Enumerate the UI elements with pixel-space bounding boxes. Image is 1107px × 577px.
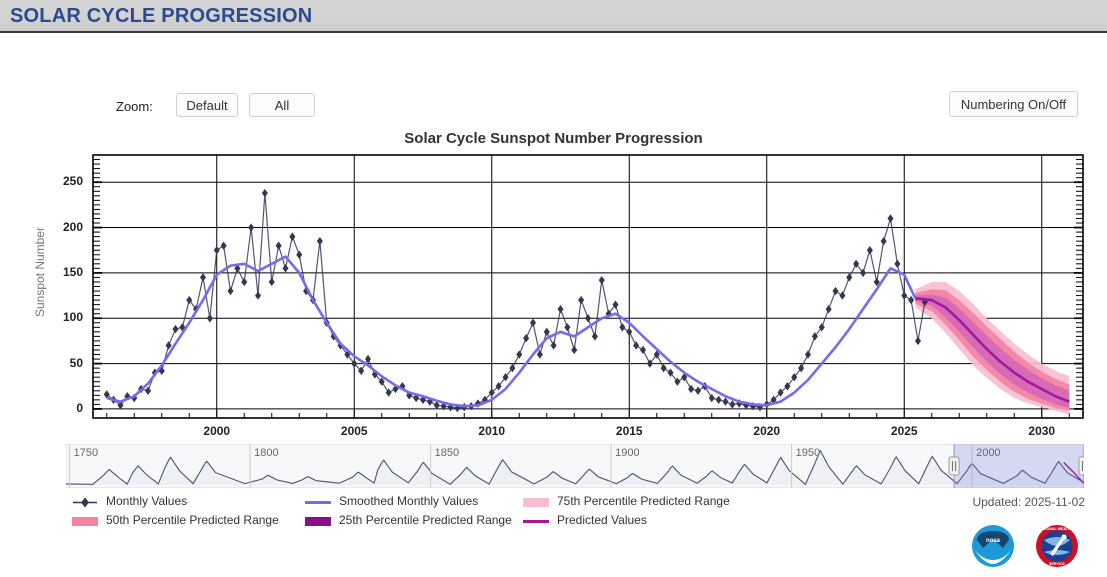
y-axis-tick: 250 [35,174,83,188]
navigator-handle-left-body[interactable] [949,457,959,475]
updated-timestamp: Updated: 2025-11-02 [972,495,1085,509]
legend-label: Monthly Values [106,494,187,508]
legend-band-swatch-icon [305,517,331,526]
zoom-label: Zoom: [116,99,153,114]
navigator-year-label: 1950 [796,447,820,459]
x-axis-tick: 2010 [462,424,522,438]
logo-svg: noaa NATIONAL WEATHER SERVICE [965,520,1085,572]
svg-text:SERVICE: SERVICE [1049,562,1065,566]
navigator-year-label: 1900 [615,447,639,459]
y-axis-tick: 0 [35,401,83,415]
x-axis-tick: 2000 [187,424,247,438]
y-axis-tick: 150 [35,265,83,279]
chart-plot-area[interactable] [0,150,1107,440]
legend-label: 25th Percentile Predicted Range [339,513,512,527]
solar-cycle-progression-page: SOLAR CYCLE PROGRESSION Zoom: Default Al… [0,0,1107,577]
chart-title: Solar Cycle Sunspot Number Progression [0,130,1107,147]
zoom-default-button[interactable]: Default [176,93,238,117]
navigator-handle-left[interactable] [949,457,959,475]
zoom-all-button[interactable]: All [249,93,315,117]
y-axis-tick: 200 [35,220,83,234]
navigator-svg [66,444,1084,488]
noaa-logo: noaa [972,525,1014,567]
legend-diamond-marker-icon [72,496,98,509]
chart-legend: Monthly ValuesSmoothed Monthly Values75t… [0,492,1107,537]
x-axis-tick: 2030 [1012,424,1072,438]
legend-label: 50th Percentile Predicted Range [106,513,279,527]
x-axis-tick: 2020 [737,424,797,438]
legend-label: 75th Percentile Predicted Range [557,494,730,508]
legend-band-swatch-icon [72,517,98,526]
legend-label: Predicted Values [557,513,647,527]
navigator-handle-right-body[interactable] [1079,457,1084,475]
navigator-handle-right[interactable] [1079,457,1084,475]
legend-line-icon [523,520,549,523]
page-title: SOLAR CYCLE PROGRESSION [10,5,312,28]
page-header: SOLAR CYCLE PROGRESSION [0,0,1107,33]
legend-line-icon [305,501,331,504]
svg-text:noaa: noaa [986,538,1001,544]
y-axis-tick: 50 [35,356,83,370]
x-axis-tick: 2015 [599,424,659,438]
x-axis-tick: 2025 [874,424,934,438]
navigator-range-selector[interactable]: 175018001850190019502000 [66,444,1084,488]
navigator-year-label: 1750 [74,447,98,459]
svg-text:NATIONAL WEATHER: NATIONAL WEATHER [1038,527,1076,531]
navigator-year-label: 1800 [254,447,278,459]
legend-label: Smoothed Monthly Values [339,494,478,508]
y-axis-tick: 100 [35,310,83,324]
legend-band-swatch-icon [523,498,549,507]
chart-toolbar [0,33,1107,95]
navigator-selection-mask[interactable] [954,444,1084,488]
chart-svg [0,150,1107,440]
navigator-year-label: 1850 [435,447,459,459]
navigator-year-label: 2000 [976,447,1000,459]
national-weather-service-logo: NATIONAL WEATHER SERVICE [1036,525,1078,567]
numbering-toggle-button[interactable]: Numbering On/Off [949,91,1078,117]
agency-logos: noaa NATIONAL WEATHER SERVICE [965,520,1085,572]
x-axis-tick: 2005 [324,424,384,438]
